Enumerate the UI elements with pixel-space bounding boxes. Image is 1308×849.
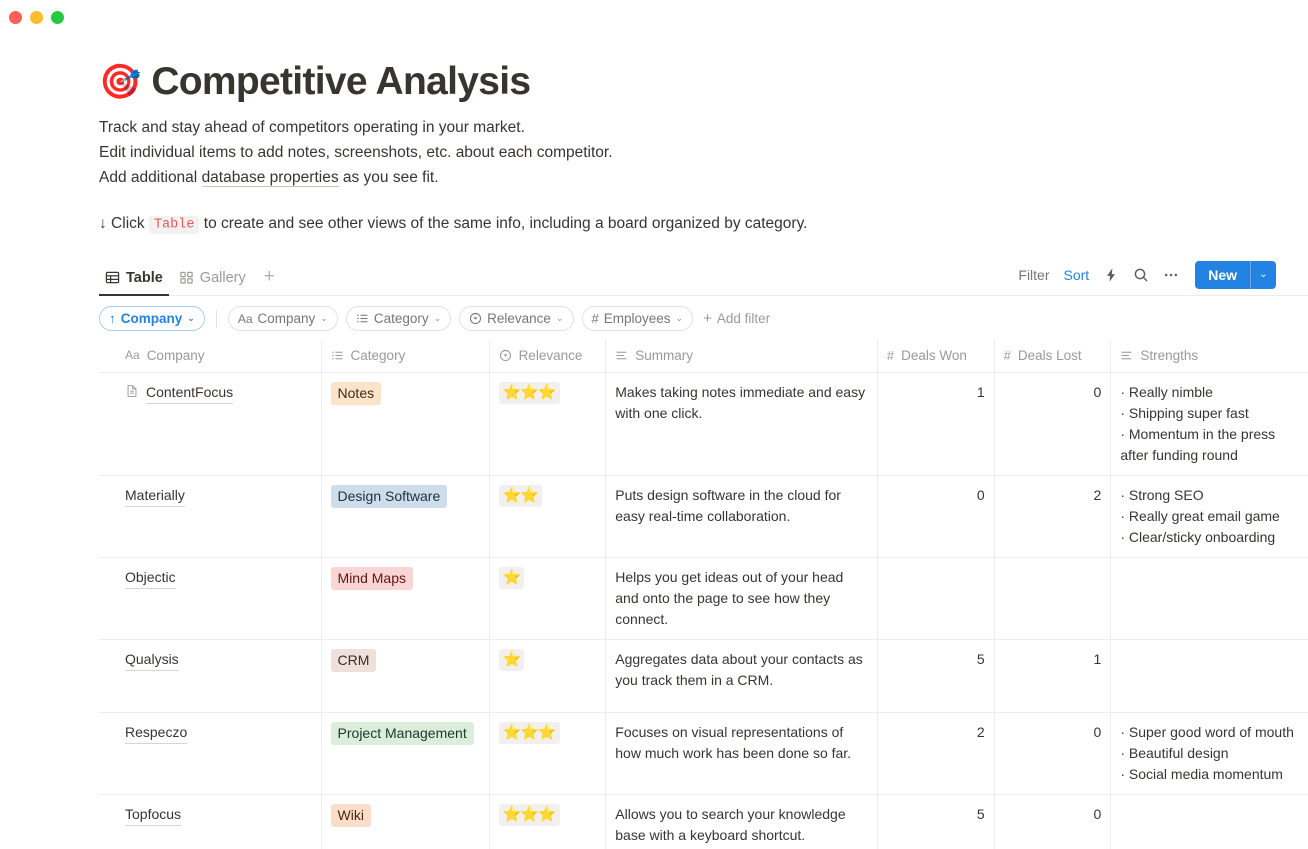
sort-ascending-icon: ↑ [109, 311, 116, 326]
column-header-summary-label: Summary [635, 345, 693, 366]
cell-summary[interactable]: Allows you to search your knowledge base… [606, 795, 878, 849]
summary-text: Aggregates data about your contacts as y… [615, 651, 863, 688]
new-button[interactable]: New ⌄ [1195, 261, 1276, 289]
cell-strengths[interactable] [1111, 795, 1308, 849]
summary-text: Helps you get ideas out of your head and… [615, 569, 843, 627]
add-filter-label: Add filter [717, 311, 770, 326]
table-row[interactable]: ContentFocusNotes⭐⭐⭐Makes taking notes i… [99, 373, 1308, 476]
table-header-row: Aa Company Category [99, 340, 1308, 373]
deals-won-value: 0 [977, 487, 985, 503]
page-description-line-3: Add additional database properties as yo… [99, 165, 1308, 190]
category-tag: CRM [331, 649, 377, 672]
chevron-down-icon: ⌄ [187, 313, 195, 324]
add-view-button[interactable]: + [256, 267, 283, 294]
cell-summary[interactable]: Aggregates data about your contacts as y… [606, 640, 878, 713]
column-header-category[interactable]: Category [322, 340, 490, 373]
page-header: 🎯 Competitive Analysis [99, 62, 1308, 103]
text-lines-icon [615, 349, 628, 362]
chip-divider [216, 310, 217, 328]
category-tag: Wiki [331, 804, 371, 827]
cell-deals-lost[interactable]: 0 [995, 795, 1112, 849]
cell-strengths[interactable] [1111, 640, 1308, 713]
sort-button[interactable]: Sort [1064, 267, 1090, 283]
cell-summary[interactable]: Focuses on visual representations of how… [606, 713, 878, 795]
cell-deals-won[interactable]: 5 [878, 640, 995, 713]
company-name[interactable]: Qualysis [125, 649, 179, 671]
cell-strengths[interactable]: · Super good word of mouth · Beautiful d… [1111, 713, 1308, 795]
deals-lost-value: 0 [1094, 384, 1102, 400]
cell-company[interactable]: Objectic [99, 558, 322, 640]
strengths-text: · Really nimble · Shipping super fast · … [1120, 384, 1275, 463]
strengths-text: · Super good word of mouth · Beautiful d… [1120, 724, 1294, 782]
filter-chip-relevance-label: Relevance [487, 311, 551, 326]
column-header-company-label: Company [147, 345, 205, 366]
deals-won-value: 1 [977, 384, 985, 400]
chevron-down-icon: ⌄ [434, 313, 442, 324]
ellipsis-icon[interactable] [1163, 267, 1179, 283]
cell-company[interactable]: Materially [99, 476, 322, 558]
table-code-chip: Table [149, 216, 200, 234]
tab-table-label: Table [126, 270, 163, 286]
page-description-line-2: Edit individual items to add notes, scre… [99, 140, 1308, 165]
page-icon [125, 384, 139, 398]
page-description-line-1: Track and stay ahead of competitors oper… [99, 115, 1308, 140]
sort-chip-label: Company [121, 311, 183, 326]
description-suffix: as you see fit. [339, 169, 439, 186]
cell-deals-lost[interactable]: 0 [995, 713, 1112, 795]
cell-company[interactable]: Topfocus [99, 795, 322, 849]
relevance-stars: ⭐ [499, 649, 525, 671]
filter-button[interactable]: Filter [1018, 267, 1049, 283]
chevron-down-icon: ⌄ [676, 313, 684, 324]
number-property-icon: # [887, 345, 894, 366]
table-row[interactable]: ObjecticMind Maps⭐Helps you get ideas ou… [99, 558, 1308, 640]
cell-strengths[interactable]: · Strong SEO · Really great email game ·… [1111, 476, 1308, 558]
relevance-stars: ⭐⭐⭐ [499, 804, 560, 826]
filter-chip-bar: ↑ Company ⌄ Aa Company ⌄ Category ⌄ [99, 296, 1308, 340]
table-body: ContentFocusNotes⭐⭐⭐Makes taking notes i… [99, 373, 1308, 849]
chevron-down-icon[interactable]: ⌄ [1250, 261, 1276, 289]
view-toolbar: Table Gallery + Filter Sort [99, 258, 1308, 296]
filter-chip-category-label: Category [374, 311, 429, 326]
cell-relevance[interactable]: ⭐ [490, 640, 607, 713]
summary-text: Allows you to search your knowledge base… [615, 806, 845, 843]
summary-text: Focuses on visual representations of how… [615, 724, 851, 761]
company-name[interactable]: Objectic [125, 567, 176, 589]
deals-lost-value: 0 [1094, 724, 1102, 740]
deals-won-value: 5 [977, 806, 985, 822]
cell-category[interactable]: Design Software [322, 476, 490, 558]
table-row[interactable]: MateriallyDesign Software⭐⭐Puts design s… [99, 476, 1308, 558]
cell-deals-lost[interactable]: 1 [995, 640, 1112, 713]
company-name[interactable]: Materially [125, 485, 185, 507]
list-icon [331, 349, 344, 362]
hint-prefix: ↓ Click [99, 215, 149, 232]
description-prefix: Add additional [99, 169, 202, 186]
column-header-deals-lost-label: Deals Lost [1018, 345, 1082, 366]
select-icon [499, 349, 512, 362]
deals-lost-value: 2 [1094, 487, 1102, 503]
deals-lost-value: 0 [1094, 806, 1102, 822]
cell-deals-won[interactable]: 2 [878, 713, 995, 795]
relevance-stars: ⭐ [499, 567, 525, 589]
column-header-deals-won[interactable]: # Deals Won [878, 340, 995, 373]
column-header-relevance[interactable]: Relevance [490, 340, 607, 373]
view-action-list: Filter Sort New [1018, 261, 1276, 295]
summary-text: Puts design software in the cloud for ea… [615, 487, 841, 524]
cell-deals-won[interactable]: 0 [878, 476, 995, 558]
zoom-window-button[interactable] [51, 11, 64, 24]
cell-deals-won[interactable]: 5 [878, 795, 995, 849]
table-row[interactable]: TopfocusWiki⭐⭐⭐Allows you to search your… [99, 795, 1308, 849]
deals-won-value: 2 [977, 724, 985, 740]
column-header-relevance-label: Relevance [519, 345, 583, 366]
text-property-icon: Aa [125, 345, 140, 366]
target-emoji-icon: 🎯 [99, 65, 141, 99]
database-table: Aa Company Category [99, 340, 1308, 849]
category-tag: Project Management [331, 722, 474, 745]
cell-summary[interactable]: Makes taking notes immediate and easy wi… [606, 373, 878, 476]
number-property-icon: # [1004, 345, 1011, 366]
category-tag: Notes [331, 382, 382, 405]
strengths-text: · Strong SEO · Really great email game ·… [1120, 487, 1280, 545]
company-name[interactable]: ContentFocus [146, 382, 233, 404]
lightning-icon[interactable] [1103, 267, 1119, 283]
select-icon [469, 312, 482, 325]
hint-suffix: to create and see other views of the sam… [199, 215, 807, 232]
cell-company[interactable]: Respeczo [99, 713, 322, 795]
filter-chip-employees-label: Employees [604, 311, 671, 326]
cell-deals-won[interactable] [878, 558, 995, 640]
table-row[interactable]: QualysisCRM⭐Aggregates data about your c… [99, 640, 1308, 713]
category-tag: Design Software [331, 485, 448, 508]
database-properties-link[interactable]: database properties [202, 169, 339, 187]
company-name[interactable]: Topfocus [125, 804, 181, 826]
filter-chip-company[interactable]: Aa Company ⌄ [228, 306, 338, 331]
gallery-icon [179, 270, 194, 285]
cell-strengths[interactable]: · Really nimble · Shipping super fast · … [1111, 373, 1308, 476]
page-title: Competitive Analysis [151, 62, 530, 103]
new-button-label: New [1195, 261, 1250, 289]
cell-relevance[interactable]: ⭐⭐⭐ [490, 713, 607, 795]
page-content: 🎯 Competitive Analysis Track and stay ah… [0, 62, 1308, 849]
table-row[interactable]: RespeczoProject Management⭐⭐⭐Focuses on … [99, 713, 1308, 795]
company-name[interactable]: Respeczo [125, 722, 187, 744]
table-icon [105, 270, 120, 285]
category-tag: Mind Maps [331, 567, 413, 590]
column-header-summary[interactable]: Summary [606, 340, 878, 373]
add-filter-button[interactable]: + Add filter [703, 310, 770, 327]
cell-company[interactable]: Qualysis [99, 640, 322, 713]
cell-deals-lost[interactable]: 2 [995, 476, 1112, 558]
column-header-company[interactable]: Aa Company [99, 340, 322, 373]
column-header-deals-lost[interactable]: # Deals Lost [995, 340, 1112, 373]
tab-gallery[interactable]: Gallery [173, 266, 252, 295]
cell-company[interactable]: ContentFocus [99, 373, 322, 476]
cell-category[interactable]: CRM [322, 640, 490, 713]
minimize-window-button[interactable] [30, 11, 43, 24]
sort-chip-company[interactable]: ↑ Company ⌄ [99, 306, 205, 331]
filter-chip-company-label: Company [258, 311, 316, 326]
cell-category[interactable]: Project Management [322, 713, 490, 795]
chevron-down-icon: ⌄ [320, 313, 328, 324]
column-header-deals-won-label: Deals Won [901, 345, 967, 366]
chevron-down-icon: ⌄ [556, 313, 564, 324]
list-icon [356, 312, 369, 325]
cell-category[interactable]: Mind Maps [322, 558, 490, 640]
cell-category[interactable]: Notes [322, 373, 490, 476]
window-titlebar [0, 0, 1308, 34]
search-icon[interactable] [1133, 267, 1149, 283]
relevance-stars: ⭐⭐⭐ [499, 722, 560, 744]
cell-relevance[interactable]: ⭐⭐ [490, 476, 607, 558]
close-window-button[interactable] [9, 11, 22, 24]
relevance-stars: ⭐⭐⭐ [499, 382, 560, 404]
cell-relevance[interactable]: ⭐ [490, 558, 607, 640]
text-property-icon: Aa [238, 312, 253, 326]
cell-category[interactable]: Wiki [322, 795, 490, 849]
plus-icon: + [703, 310, 712, 327]
summary-text: Makes taking notes immediate and easy wi… [615, 384, 865, 421]
cell-strengths[interactable] [1111, 558, 1308, 640]
deals-won-value: 5 [977, 651, 985, 667]
cell-summary[interactable]: Helps you get ideas out of your head and… [606, 558, 878, 640]
column-header-strengths[interactable]: Strengths [1111, 340, 1308, 373]
relevance-stars: ⭐⭐ [499, 485, 542, 507]
text-lines-icon [1120, 349, 1133, 362]
cell-deals-lost[interactable] [995, 558, 1112, 640]
cell-summary[interactable]: Puts design software in the cloud for ea… [606, 476, 878, 558]
cell-relevance[interactable]: ⭐⭐⭐ [490, 373, 607, 476]
cell-deals-lost[interactable]: 0 [995, 373, 1112, 476]
filter-chip-category[interactable]: Category ⌄ [346, 306, 451, 331]
filter-chip-employees[interactable]: # Employees ⌄ [582, 306, 694, 331]
cell-deals-won[interactable]: 1 [878, 373, 995, 476]
page-hint: ↓ Click Table to create and see other vi… [99, 211, 1308, 238]
number-property-icon: # [592, 311, 599, 326]
deals-lost-value: 1 [1094, 651, 1102, 667]
column-header-category-label: Category [351, 345, 406, 366]
view-tab-list: Table Gallery + [99, 266, 283, 295]
filter-chip-relevance[interactable]: Relevance ⌄ [459, 306, 573, 331]
tab-table[interactable]: Table [99, 266, 169, 295]
cell-relevance[interactable]: ⭐⭐⭐ [490, 795, 607, 849]
column-header-strengths-label: Strengths [1140, 345, 1198, 366]
tab-gallery-label: Gallery [200, 270, 246, 286]
